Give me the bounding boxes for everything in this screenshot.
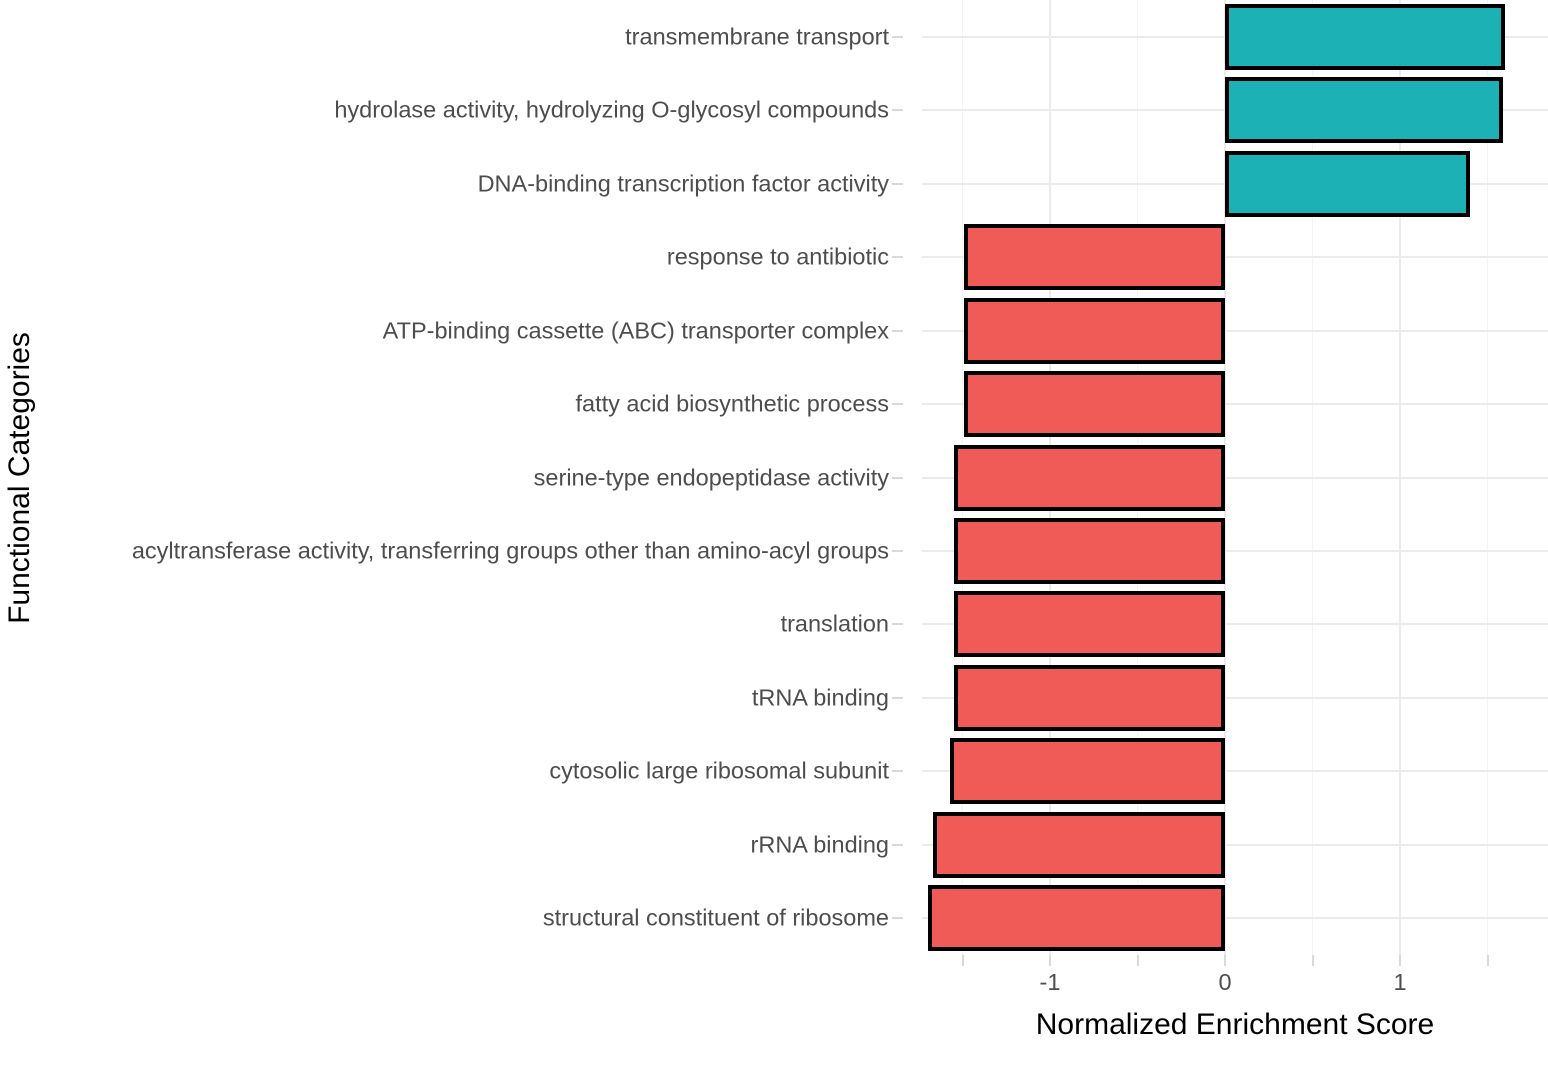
x-axis-tick-mark-minor <box>1487 955 1489 966</box>
bar-negative[interactable] <box>964 224 1225 290</box>
x-axis-tick-mark-minor <box>1137 955 1139 966</box>
y-axis-tick-mark <box>892 844 903 846</box>
y-axis-tick-mark <box>892 109 903 111</box>
bar-negative[interactable] <box>954 591 1225 657</box>
y-axis-title: Functional Categories <box>0 0 40 955</box>
y-axis-tick-mark <box>892 330 903 332</box>
bar-negative[interactable] <box>950 738 1225 804</box>
y-axis-tick-mark <box>892 256 903 258</box>
x-axis-title: Normalized Enrichment Score <box>922 1008 1548 1056</box>
y-axis-tick-mark <box>892 550 903 552</box>
y-axis-tick-mark <box>892 697 903 699</box>
y-axis-tick-label: ATP-binding cassette (ABC) transporter c… <box>44 317 889 344</box>
y-axis-tick-mark <box>892 403 903 405</box>
y-axis-tick-mark <box>892 623 903 625</box>
x-axis-tick-label: 1 <box>1393 969 1406 996</box>
x-axis-tick-mark-minor <box>962 955 964 966</box>
y-axis-tick-label: serine-type endopeptidase activity <box>44 464 889 491</box>
bar-negative[interactable] <box>954 518 1225 584</box>
bar-negative[interactable] <box>928 885 1226 951</box>
y-axis-tick-mark <box>892 917 903 919</box>
bar-negative[interactable] <box>933 812 1225 878</box>
gsea-enrichment-bar-chart: Functional Categories transmembrane tran… <box>0 0 1548 1071</box>
y-axis-tick-mark <box>892 36 903 38</box>
plot-panel <box>922 0 1548 955</box>
y-axis-tick-mark <box>892 770 903 772</box>
bar-positive[interactable] <box>1225 151 1470 217</box>
bar-negative[interactable] <box>964 371 1225 437</box>
y-axis-tick-label: DNA-binding transcription factor activit… <box>44 170 889 197</box>
y-axis-title-text: Functional Categories <box>3 332 37 624</box>
y-axis-tick-label: fatty acid biosynthetic process <box>44 391 889 418</box>
bar-positive[interactable] <box>1225 77 1503 143</box>
x-axis-tick-mark-major <box>1224 955 1226 966</box>
y-axis-tick-label: translation <box>44 611 889 638</box>
bar-negative[interactable] <box>954 665 1225 731</box>
bar-negative[interactable] <box>964 298 1225 364</box>
y-axis-tick-label: transmembrane transport <box>44 23 889 50</box>
y-axis-tick-label: rRNA binding <box>44 831 889 858</box>
x-axis: -101 <box>922 955 1548 1015</box>
bar-positive[interactable] <box>1225 4 1505 70</box>
y-axis-tick-label: hydrolase activity, hydrolyzing O-glycos… <box>44 97 889 124</box>
x-axis-tick-mark-major <box>1049 955 1051 966</box>
y-axis-tick-labels: transmembrane transporthydrolase activit… <box>44 0 889 955</box>
y-axis-tick-marks <box>892 0 922 955</box>
x-axis-tick-mark-major <box>1399 955 1401 966</box>
y-axis-tick-label: tRNA binding <box>44 684 889 711</box>
x-axis-tick-label: 0 <box>1218 969 1231 996</box>
y-axis-tick-mark <box>892 183 903 185</box>
x-axis-tick-mark-minor <box>1312 955 1314 966</box>
y-axis-tick-mark <box>892 477 903 479</box>
y-axis-tick-label: response to antibiotic <box>44 244 889 271</box>
y-axis-tick-label: cytosolic large ribosomal subunit <box>44 758 889 785</box>
bar-negative[interactable] <box>954 445 1225 511</box>
y-axis-tick-label: acyltransferase activity, transferring g… <box>44 537 889 564</box>
x-axis-tick-label: -1 <box>1040 969 1061 996</box>
y-axis-tick-label: structural constituent of ribosome <box>44 905 889 932</box>
